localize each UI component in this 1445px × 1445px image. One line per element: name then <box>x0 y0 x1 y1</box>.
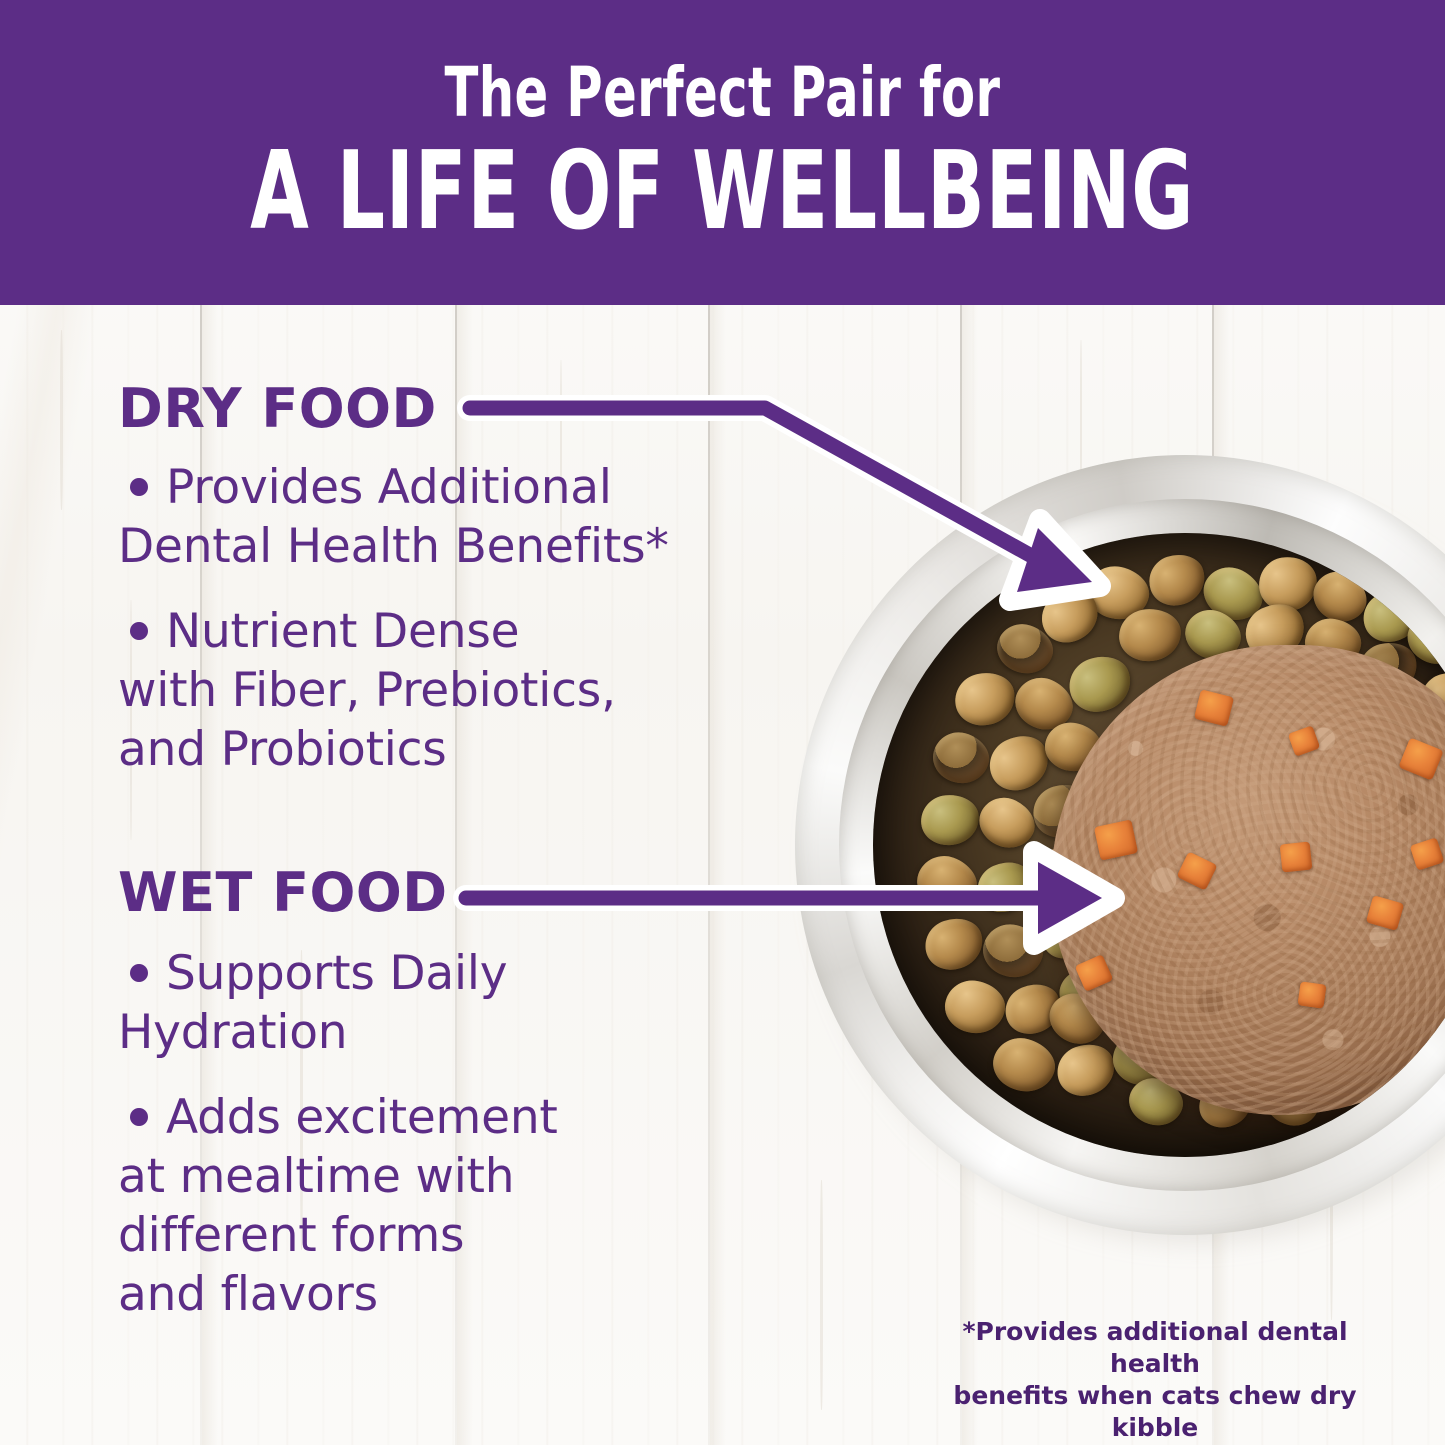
infographic-canvas: The Perfect Pair for A LIFE OF WELLBEING <box>0 0 1445 1445</box>
header-line-1: The Perfect Pair for <box>445 59 1001 128</box>
arrow-wet-food-to-pate <box>466 852 1114 944</box>
footnote-disclaimer: *Provides additional dental health benef… <box>935 1316 1375 1444</box>
header-banner: The Perfect Pair for A LIFE OF WELLBEING <box>0 0 1445 305</box>
footnote-line-1: *Provides additional dental health <box>935 1316 1375 1380</box>
header-line-2: A LIFE OF WELLBEING <box>250 138 1194 246</box>
footnote-line-2: benefits when cats chew dry kibble <box>935 1380 1375 1444</box>
arrow-dry-food-to-kibble <box>470 408 1100 600</box>
